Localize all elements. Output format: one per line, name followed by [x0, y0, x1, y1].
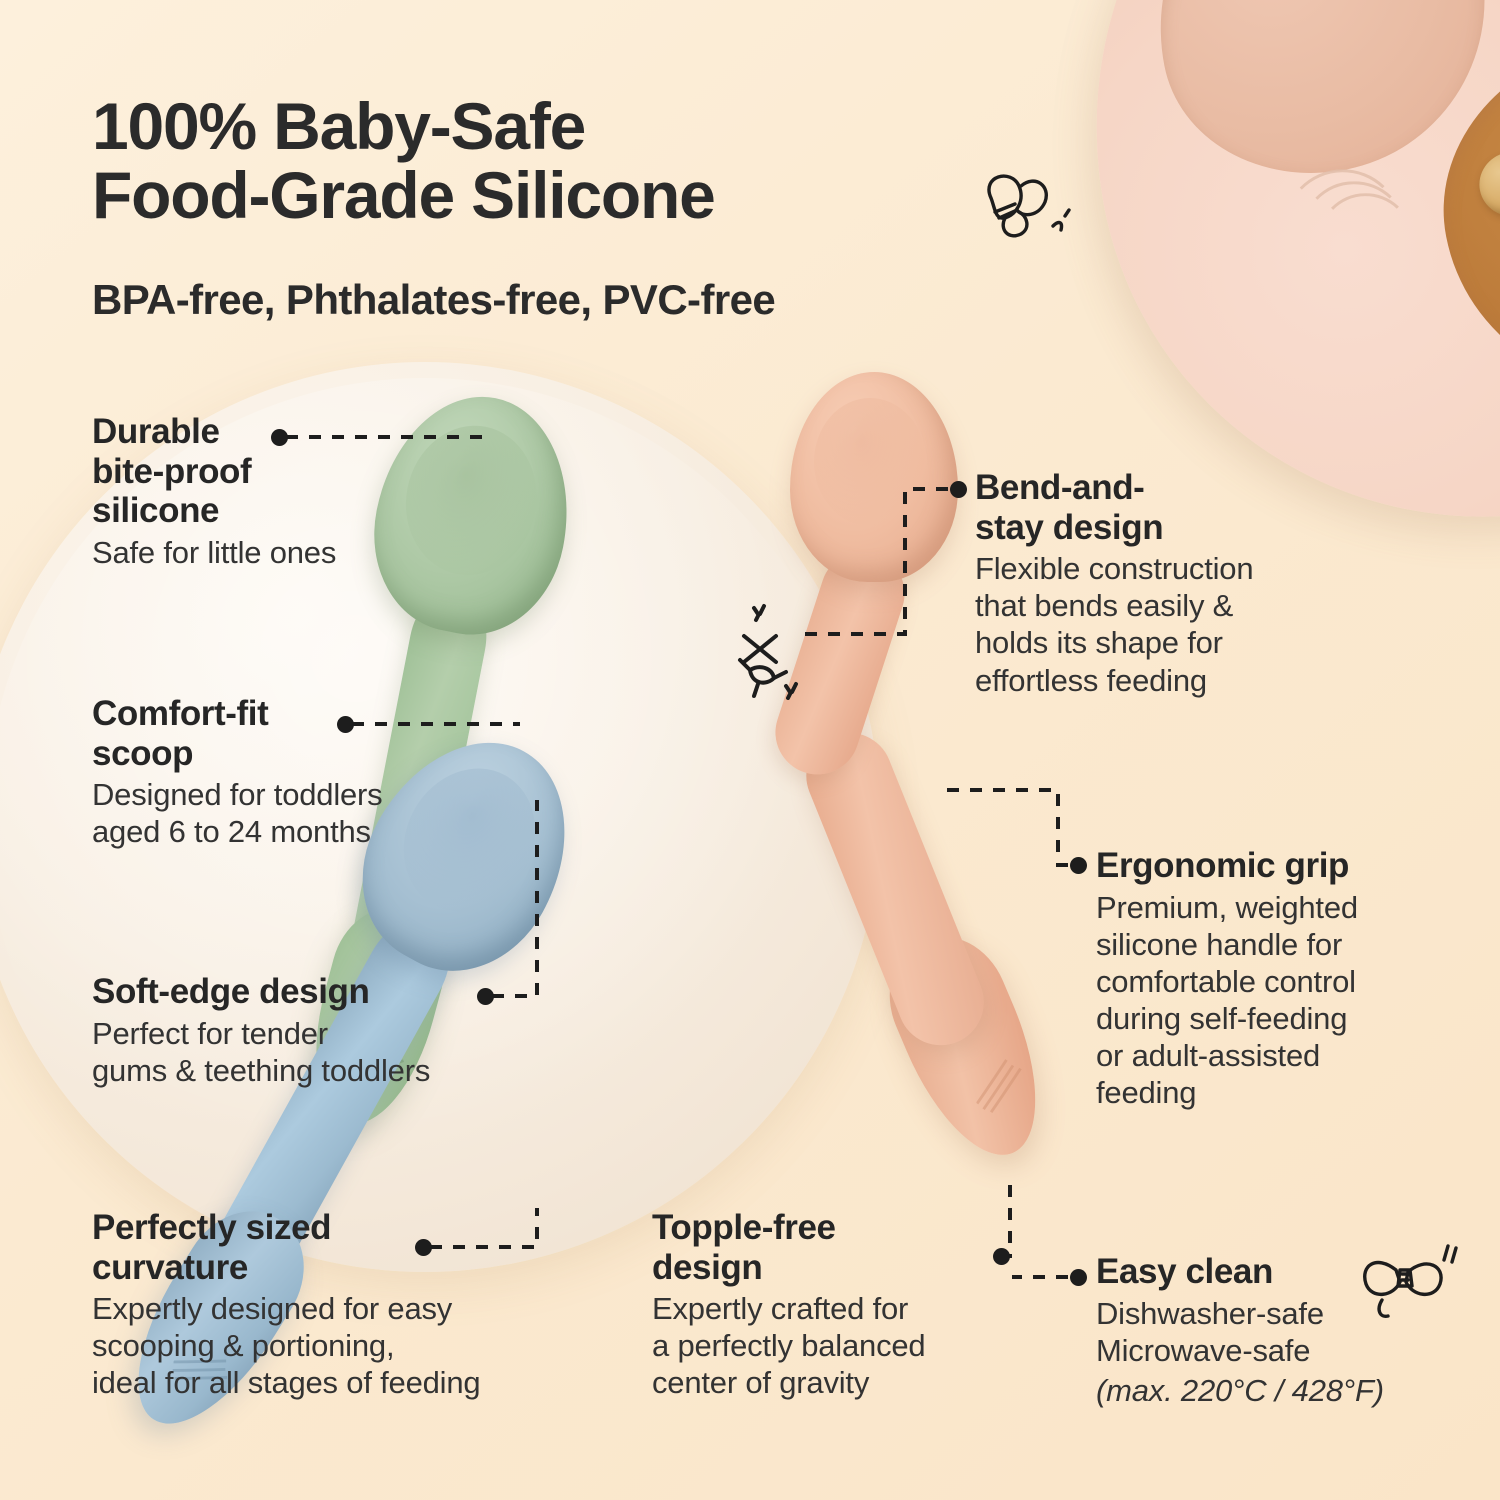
- spoon-bowl: [790, 372, 958, 582]
- callout-topple-free-design: Topple-free design Expertly crafted for …: [652, 1208, 982, 1402]
- callout-title: Ergonomic grip: [1096, 846, 1426, 886]
- callout-body: Dishwasher-safe Microwave-safe: [1096, 1295, 1436, 1369]
- plate-well-fruit: [1131, 0, 1500, 200]
- infographic-canvas: 100% Baby-Safe Food-Grade Silicone BPA-f…: [0, 0, 1500, 1500]
- callout-body: Safe for little ones: [92, 534, 422, 571]
- callout-body: Expertly designed for easy scooping & po…: [92, 1290, 582, 1402]
- plate-rib: [1317, 192, 1415, 290]
- grip-texture-lines: [965, 1053, 1036, 1118]
- callout-body: Designed for toddlers aged 6 to 24 month…: [92, 776, 452, 850]
- callout-body: Flexible construction that bends easily …: [975, 550, 1315, 699]
- callout-title: Perfectly sized curvature: [92, 1208, 582, 1287]
- page-subtitle: BPA-free, Phthalates-free, PVC-free: [92, 276, 1092, 324]
- callout-perfectly-sized-curvature: Perfectly sized curvature Expertly desig…: [92, 1208, 582, 1402]
- callout-body: Premium, weighted silicone handle for co…: [1096, 889, 1426, 1112]
- callout-ergonomic-grip: Ergonomic grip Premium, weighted silicon…: [1096, 846, 1426, 1112]
- callout-title: Bend-and- stay design: [975, 468, 1315, 547]
- callout-title: Durable bite-proof silicone: [92, 412, 422, 531]
- leader-dot-ergonomic: [1070, 857, 1087, 874]
- leader-dot-bend: [950, 481, 967, 498]
- callout-body: Perfect for tender gums & teething toddl…: [92, 1015, 512, 1089]
- headline-line-1: 100% Baby-Safe: [92, 89, 585, 163]
- callout-comfort-fit-scoop: Comfort-fit scoop Designed for toddlers …: [92, 694, 452, 850]
- callout-soft-edge-design: Soft-edge design Perfect for tender gums…: [92, 972, 512, 1089]
- callout-title: Topple-free design: [652, 1208, 982, 1287]
- leader-dot-topple: [993, 1248, 1010, 1265]
- callout-temperature-note: (max. 220°C / 428°F): [1096, 1372, 1436, 1409]
- callout-bend-and-stay-design: Bend-and- stay design Flexible construct…: [975, 468, 1315, 699]
- sparkle-doodle: [724, 592, 820, 700]
- callout-body: Expertly crafted for a perfectly balance…: [652, 1290, 982, 1402]
- headline-line-2: Food-Grade Silicone: [92, 161, 1042, 230]
- callout-title: Soft-edge design: [92, 972, 512, 1012]
- leader-dot-easyclean: [1070, 1269, 1087, 1286]
- page-title: 100% Baby-Safe Food-Grade Silicone: [92, 92, 1042, 229]
- callout-easy-clean: Easy clean Dishwasher-safe Microwave-saf…: [1096, 1252, 1436, 1409]
- callout-durable: Durable bite-proof silicone Safe for lit…: [92, 412, 422, 571]
- callout-title: Comfort-fit scoop: [92, 694, 452, 773]
- callout-title: Easy clean: [1096, 1252, 1436, 1292]
